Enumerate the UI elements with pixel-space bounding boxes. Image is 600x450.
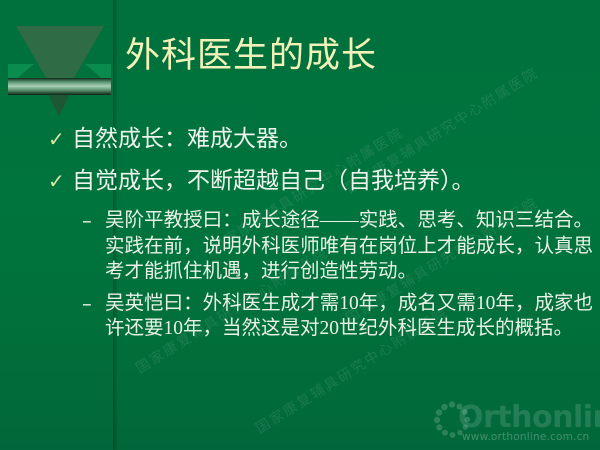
presentation-slide: 外科医生的成长 国家康复辅具研究中心附属医院 国家康复辅具研究中心附属医院 国家…	[0, 0, 600, 450]
bullet-item-level1: ✓ 自觉成长，不断超越自己（自我培养）。	[48, 166, 593, 196]
bullet-item-level2: – 吴英恺曰：外科医生成才需10年，成名又需10年，成家也许还要10年，当然这是…	[48, 291, 593, 342]
bullet-text: 吴阶平教授曰：成长途径——实践、思考、知识三结合。实践在前，说明外科医师唯有在岗…	[105, 210, 593, 282]
check-bullet-icon: ✓	[48, 124, 65, 154]
dash-bullet-icon: –	[82, 291, 92, 317]
page-title: 外科医生的成长	[125, 34, 377, 78]
marble-triangle-logo	[8, 16, 111, 108]
check-bullet-icon: ✓	[48, 166, 65, 196]
bullet-text: 吴英恺曰：外科医生成才需10年，成名又需10年，成家也许还要10年，当然这是对2…	[105, 293, 593, 340]
bullet-item-level1: ✓ 自然成长：难成大器。	[48, 124, 593, 154]
dash-bullet-icon: –	[82, 208, 92, 234]
bullet-text: 自然成长：难成大器。	[72, 126, 302, 151]
bullet-text: 自觉成长，不断超越自己（自我培养）。	[72, 168, 475, 193]
bullet-item-level2: – 吴阶平教授曰：成长途径——实践、思考、知识三结合。实践在前，说明外科医师唯有…	[48, 208, 593, 285]
logo-triangle-tip-icon	[48, 94, 70, 116]
logo-bar-icon	[8, 78, 111, 95]
slide-body: ✓ 自然成长：难成大器。 ✓ 自觉成长，不断超越自己（自我培养）。 – 吴阶平教…	[48, 124, 593, 348]
